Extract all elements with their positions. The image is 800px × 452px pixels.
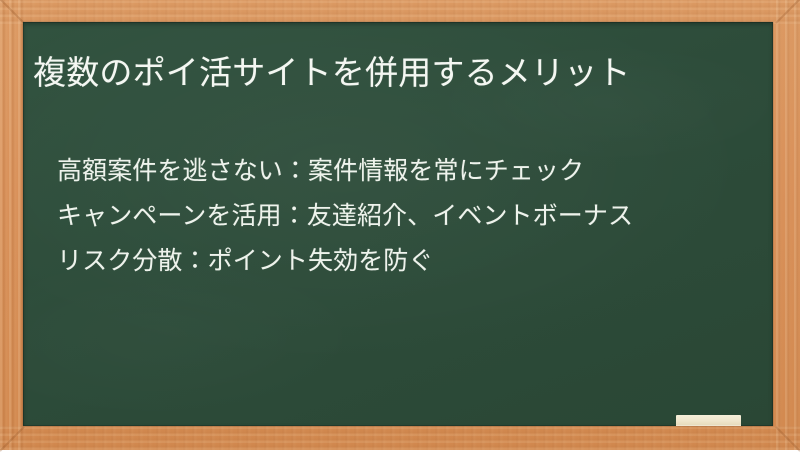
chalkboard-surface: 複数のポイ活サイトを併用するメリット 高額案件を逃さない：案件情報を常にチェック… (23, 22, 773, 426)
slide-title: 複数のポイ活サイトを併用するメリット (33, 50, 761, 95)
wood-grain-right (776, 0, 800, 450)
frame-miter-top-right (775, 0, 800, 24)
frame-miter-top-left (0, 0, 25, 24)
bullet-item-2: キャンペーンを活用：友達紹介、イベントボーナス (57, 195, 743, 237)
frame-miter-bottom-left (0, 426, 25, 451)
chalk-stick-icon (676, 415, 741, 426)
chalkboard-frame: 複数のポイ活サイトを併用するメリット 高額案件を逃さない：案件情報を常にチェック… (0, 0, 800, 450)
wood-grain-bottom (0, 426, 800, 450)
bullet-item-1: 高額案件を逃さない：案件情報を常にチェック (57, 150, 743, 192)
bullet-item-3: リスク分散：ポイント失効を防ぐ (57, 240, 743, 282)
wood-grain-left (0, 0, 24, 450)
frame-miter-bottom-right (775, 426, 800, 451)
bullet-list: 高額案件を逃さない：案件情報を常にチェック キャンペーンを活用：友達紹介、イベン… (57, 150, 743, 285)
wood-grain-top (0, 0, 800, 24)
